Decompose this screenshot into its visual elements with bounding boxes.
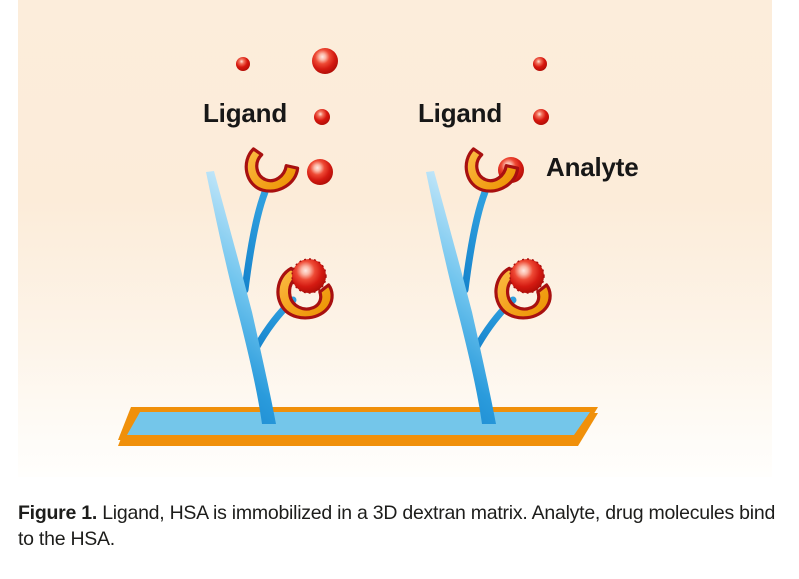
chip-surface	[127, 412, 590, 435]
ligand-right-unbound	[460, 138, 522, 198]
dextran-trunk-right	[426, 171, 496, 424]
sensor-chip-diagram	[18, 0, 772, 477]
dextran-branch-upper-right	[465, 192, 485, 290]
figure-container: Ligand Ligand Analyte Figure 1. Ligand, …	[0, 0, 799, 579]
dextran-trunk-left	[206, 171, 276, 424]
figure-caption: Figure 1. Ligand, HSA is immobilized in …	[18, 500, 780, 552]
analyte-free-2	[312, 48, 338, 74]
dextran-branch-upper-left	[245, 192, 265, 290]
sensor-chip-slab	[118, 407, 598, 446]
ligand-left-unbound	[240, 138, 302, 198]
analyte-free-4	[307, 159, 333, 185]
analyte-free-5	[533, 57, 547, 71]
analyte-free-6	[533, 109, 549, 125]
figure-caption-label: Figure 1.	[18, 502, 97, 524]
analyte-free-3	[314, 109, 330, 125]
analyte-bound-left	[292, 259, 326, 293]
analyte-free-1	[236, 57, 250, 71]
label-ligand-right: Ligand	[418, 98, 502, 129]
label-ligand-left: Ligand	[203, 98, 287, 129]
analyte-bound-right	[510, 259, 544, 293]
label-analyte: Analyte	[546, 152, 639, 183]
illustration-panel: Ligand Ligand Analyte	[18, 0, 772, 477]
figure-caption-text: Ligand, HSA is immobilized in a 3D dextr…	[18, 502, 775, 550]
